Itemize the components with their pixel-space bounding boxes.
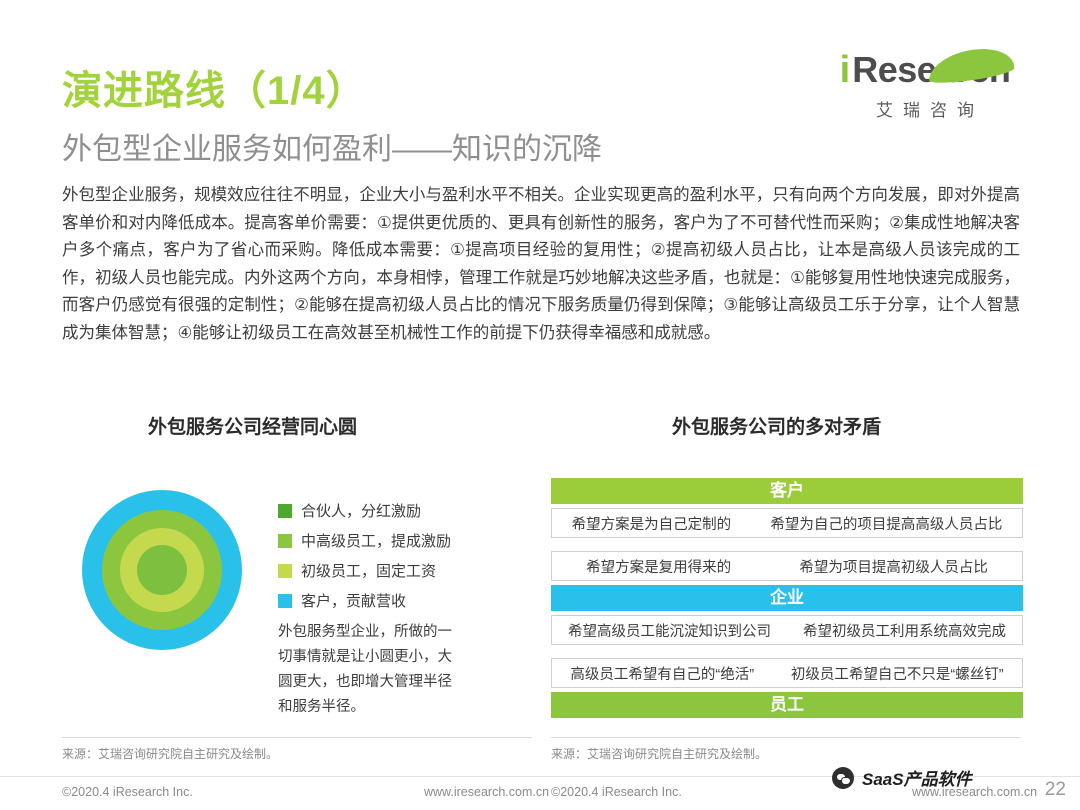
concentric-circle-diagram xyxy=(82,490,242,650)
watermark-label: SaaS产品软件 xyxy=(862,765,972,790)
legend-label: 合伙人，分红激励 xyxy=(301,500,421,521)
legend-label: 初级员工，固定工资 xyxy=(301,560,436,581)
legend-swatch-icon xyxy=(278,534,292,548)
left-panel-title: 外包服务公司经营同心圆 xyxy=(148,412,357,439)
right-panel-title: 外包服务公司的多对矛盾 xyxy=(672,412,881,439)
page-title: 演进路线（1/4） xyxy=(62,58,367,116)
body-paragraph: 外包型企业服务，规模效应往往不明显，企业大小与盈利水平不相关。企业实现更高的盈利… xyxy=(62,182,1020,347)
legend-swatch-icon xyxy=(278,594,292,608)
left-divider xyxy=(62,737,532,738)
row-cell: 高级员工希望有自己的“绝活” xyxy=(564,663,760,684)
legend-item: 中高级员工，提成激励 xyxy=(278,530,528,551)
legend: 合伙人，分红激励 中高级员工，提成激励 初级员工，固定工资 客户，贡献营收 外包… xyxy=(278,500,528,720)
row-cell: 希望为自己的项目提高高级人员占比 xyxy=(764,513,1008,534)
row-cell: 初级员工希望自己不只是“螺丝钉” xyxy=(785,663,1010,684)
footer-url-left: www.iresearch.com.cn xyxy=(424,785,549,799)
slide-page: 演进路线（1/4） 外包型企业服务如何盈利——知识的沉降 i Research … xyxy=(0,0,1080,810)
left-source-note: 来源：艾瑞咨询研究院自主研究及绘制。 xyxy=(62,745,278,762)
contradiction-diagram: 客户 希望方案是为自己定制的 希望为自己的项目提高高级人员占比 希望方案是复用得… xyxy=(551,478,1023,718)
row-staff-wishes: 高级员工希望有自己的“绝活” 初级员工希望自己不只是“螺丝钉” xyxy=(551,658,1023,688)
row-customer-wishes: 希望方案是为自己定制的 希望为自己的项目提高高级人员占比 xyxy=(551,508,1023,538)
wechat-icon xyxy=(832,767,854,789)
band-staff: 员工 xyxy=(551,692,1023,718)
row-cell: 希望方案是为自己定制的 xyxy=(566,513,738,534)
page-subtitle: 外包型企业服务如何盈利——知识的沉降 xyxy=(62,124,602,168)
row-company-staff-wishes: 希望高级员工能沉淀知识到公司 希望初级员工利用系统高效完成 xyxy=(551,615,1023,645)
legend-label: 中高级员工，提成激励 xyxy=(301,530,451,551)
logo-chinese-text: 艾瑞咨询 xyxy=(825,96,1025,121)
right-divider xyxy=(551,737,1021,738)
row-cell: 希望初级员工利用系统高效完成 xyxy=(797,620,1012,641)
legend-note: 外包服务型企业，所做的一切事情就是让小圆更小，大圆更大，也即增大管理半径和服务半… xyxy=(278,620,463,720)
page-number: 22 xyxy=(1045,779,1066,801)
row-cell: 希望方案是复用得来的 xyxy=(580,556,737,577)
logo-i-text: i xyxy=(840,51,851,89)
row-cell: 希望为项目提高初级人员占比 xyxy=(793,556,994,577)
row-cell: 希望高级员工能沉淀知识到公司 xyxy=(562,620,777,641)
legend-item: 客户，贡献营收 xyxy=(278,590,528,611)
right-source-note: 来源：艾瑞咨询研究院自主研究及绘制。 xyxy=(551,745,767,762)
row-company-wishes: 希望方案是复用得来的 希望为项目提高初级人员占比 xyxy=(551,551,1023,581)
circle-partners xyxy=(137,545,187,595)
legend-item: 初级员工，固定工资 xyxy=(278,560,528,581)
legend-swatch-icon xyxy=(278,564,292,578)
band-company: 企业 xyxy=(551,585,1023,611)
footer-copyright-right: ©2020.4 iResearch Inc. xyxy=(551,785,682,799)
legend-item: 合伙人，分红激励 xyxy=(278,500,528,521)
wechat-watermark: SaaS产品软件 xyxy=(832,765,972,790)
iresearch-logo: i Research 艾瑞咨询 xyxy=(825,48,1025,121)
legend-label: 客户，贡献营收 xyxy=(301,590,406,611)
legend-swatch-icon xyxy=(278,504,292,518)
band-customer: 客户 xyxy=(551,478,1023,504)
footer-copyright-left: ©2020.4 iResearch Inc. xyxy=(62,785,193,799)
